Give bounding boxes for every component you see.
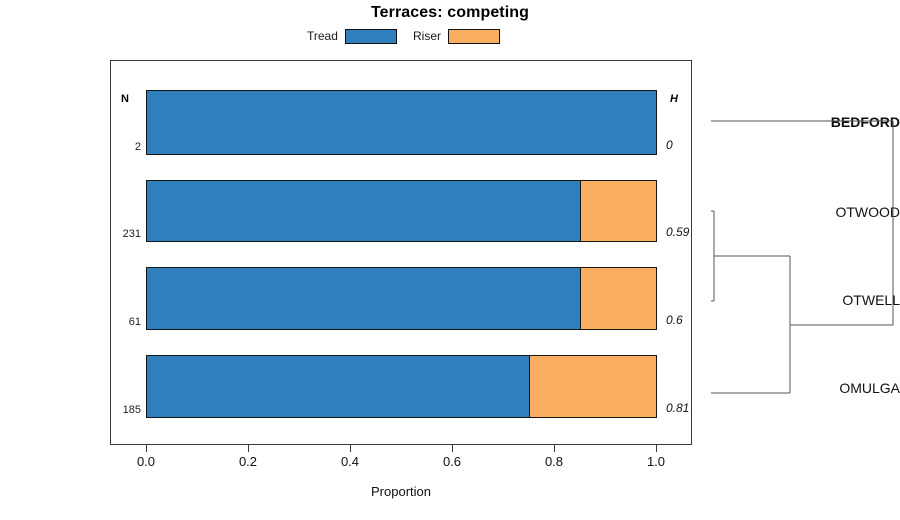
column-header-n: N [121, 93, 129, 105]
bar-segment-riser [580, 181, 656, 241]
dendrogram [700, 60, 900, 445]
x-tick-1 [248, 445, 249, 452]
bar-row-bedford[interactable] [146, 90, 657, 155]
n-value-bedford: 2 [109, 141, 141, 153]
bar-segment-tread [147, 181, 580, 241]
h-value-omulga: 0.81 [666, 401, 689, 415]
legend-swatch-tread [345, 29, 397, 44]
legend-swatch-riser [448, 29, 500, 44]
bar-segment-riser [580, 268, 656, 329]
bar-segment-tread [147, 356, 529, 417]
n-value-otwell: 61 [109, 316, 141, 328]
chart-legend: Tread Riser [0, 26, 900, 46]
dendrogram-svg [700, 60, 900, 445]
h-value-otwell: 0.6 [666, 313, 683, 327]
column-header-h: H [670, 93, 678, 105]
x-tick-2 [350, 445, 351, 452]
bar-segment-tread [147, 91, 656, 154]
x-tick-label-1: 0.2 [228, 454, 268, 469]
bar-row-omulga[interactable] [146, 355, 657, 418]
legend-label-tread: Tread [307, 29, 338, 43]
x-axis-title: Proportion [110, 484, 692, 499]
bar-segment-tread [147, 268, 580, 329]
legend-entry-riser[interactable]: Riser [413, 26, 500, 46]
x-tick-label-0: 0.0 [126, 454, 166, 469]
bar-row-otwell[interactable] [146, 267, 657, 330]
bar-row-otwood[interactable] [146, 180, 657, 242]
legend-entry-tread[interactable]: Tread [307, 26, 397, 46]
bar-segment-riser [529, 356, 656, 417]
x-tick-label-4: 0.8 [534, 454, 574, 469]
chart-root: Terraces: competing Tread Riser BEDFORD … [0, 0, 900, 520]
chart-title: Terraces: competing [0, 4, 900, 22]
x-tick-4 [554, 445, 555, 452]
x-tick-label-3: 0.6 [432, 454, 472, 469]
x-tick-5 [656, 445, 657, 452]
n-value-omulga: 185 [109, 404, 141, 416]
h-value-otwood: 0.59 [666, 225, 689, 239]
h-value-bedford: 0 [666, 138, 673, 152]
x-tick-label-5: 1.0 [636, 454, 676, 469]
x-tick-3 [452, 445, 453, 452]
x-tick-0 [146, 445, 147, 452]
x-tick-label-2: 0.4 [330, 454, 370, 469]
legend-label-riser: Riser [413, 29, 441, 43]
n-value-otwood: 231 [109, 228, 141, 240]
